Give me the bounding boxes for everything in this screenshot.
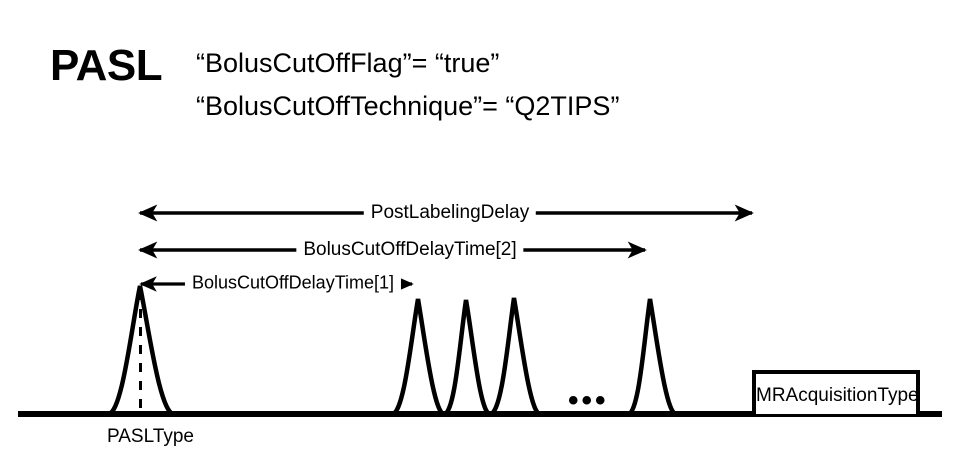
ellipsis-indicator: ••• [568, 386, 609, 416]
arrow-label-boluscutoffdelaytime-1: BolusCutOffDelayTime[1] [185, 273, 401, 294]
readout-pulse-3 [490, 298, 540, 414]
arrow-label-postlabelingdelay: PostLabelingDelay [364, 202, 536, 224]
pasltype-label: PASLType [107, 427, 194, 446]
page-title: PASL [50, 44, 162, 88]
arrow-label-boluscutoffdelaytime-2: BolusCutOffDelayTime[2] [296, 239, 523, 261]
labeling-pulse-group [108, 286, 174, 414]
readout-pulse-1 [392, 299, 444, 414]
readout-pulse-2 [444, 300, 490, 414]
pasl-diagram-canvas: PASL “BolusCutOffFlag”= “true” “BolusCut… [0, 0, 960, 474]
mracquisitiontype-box: MRAcquisitionType [752, 370, 920, 414]
parameter-boluscutofftechnique: “BolusCutOffTechnique”= “Q2TIPS” [196, 93, 619, 120]
parameter-boluscutoffflag: “BolusCutOffFlag”= “true” [196, 50, 499, 77]
mracquisitiontype-label: MRAcquisitionType [756, 385, 916, 407]
readout-pulse-group [392, 298, 676, 414]
readout-pulse-4 [628, 299, 676, 414]
